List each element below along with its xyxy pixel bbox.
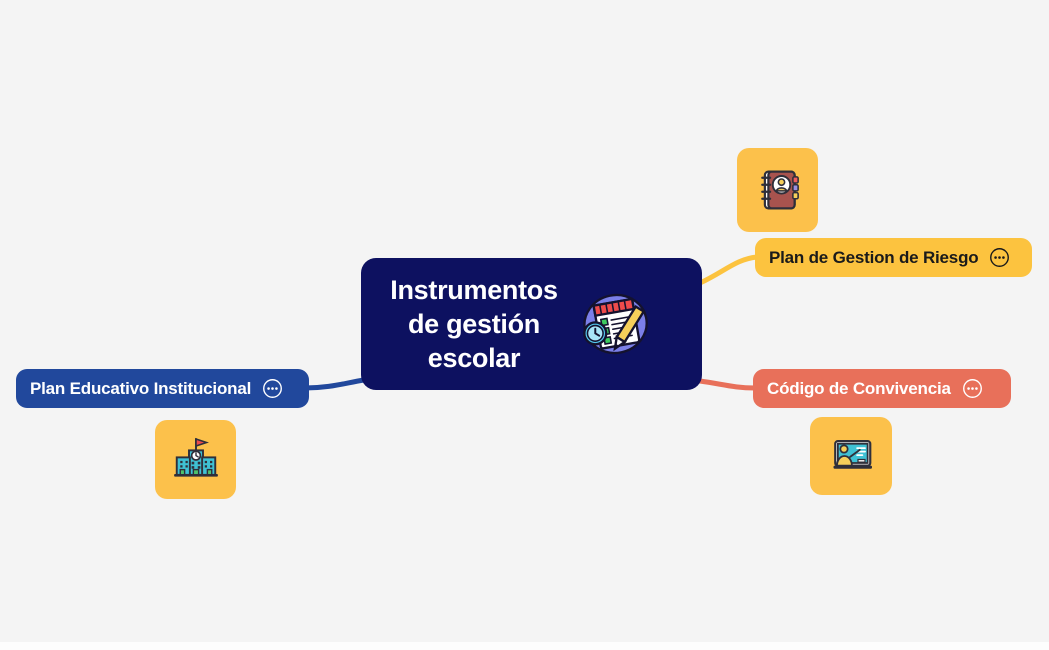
more-options-dots-icon[interactable]	[989, 247, 1010, 268]
canvas-bottom-edge	[0, 642, 1049, 650]
address-book-contacts-icon	[750, 162, 806, 218]
school-building-icon	[168, 432, 224, 488]
central-node[interactable]: Instrumentos de gestión escolar	[361, 258, 702, 390]
branch-node-pei[interactable]: Plan Educativo Institucional	[16, 369, 309, 408]
more-options-dots-icon[interactable]	[262, 378, 283, 399]
branch-node-convivencia[interactable]: Código de Convivencia	[753, 369, 1011, 408]
icon-tile-riesgo[interactable]	[737, 148, 818, 232]
branch-node-riesgo[interactable]: Plan de Gestion de Riesgo	[755, 238, 1032, 277]
connector-convivencia	[700, 381, 755, 388]
clipboard-checklist-pencil-icon	[575, 285, 653, 363]
branch-label-pei: Plan Educativo Institucional	[30, 379, 251, 399]
more-options-dots-icon[interactable]	[962, 378, 983, 399]
branch-label-convivencia: Código de Convivencia	[767, 379, 951, 399]
icon-tile-pei[interactable]	[155, 420, 236, 499]
branch-label-riesgo: Plan de Gestion de Riesgo	[769, 248, 978, 268]
teacher-blackboard-icon	[823, 428, 879, 484]
connector-pei	[305, 380, 364, 388]
mindmap-canvas: Instrumentos de gestión escolar	[0, 0, 1049, 650]
icon-tile-convivencia[interactable]	[810, 417, 892, 495]
central-node-title: Instrumentos de gestión escolar	[379, 273, 569, 375]
connector-riesgo	[700, 257, 757, 283]
